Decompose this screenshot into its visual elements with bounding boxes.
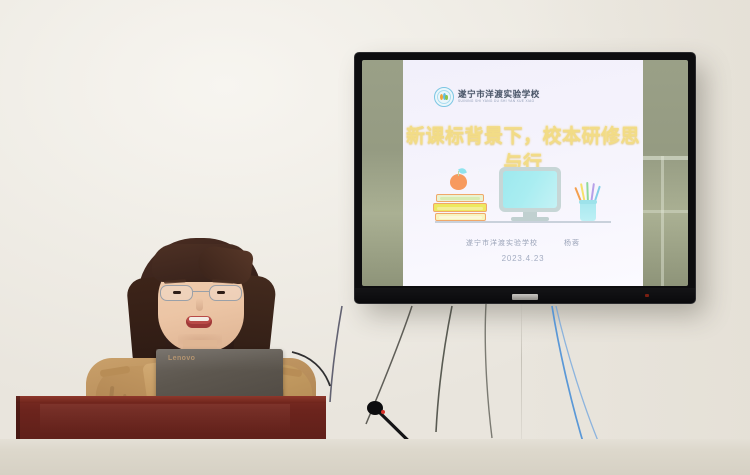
book-bottom	[435, 213, 486, 221]
teeth	[189, 317, 209, 321]
slide-footer-date: 2023.4.23	[403, 254, 643, 263]
eye-right	[217, 291, 225, 294]
presentation-slide: 遂宁市洋渡实验学校 SUINING SHI YANG DU SHI YAN XU…	[403, 60, 643, 286]
lens-right	[209, 285, 242, 301]
glasses-bridge	[193, 291, 209, 292]
nose	[196, 298, 203, 311]
slide-footer-line: 遂宁市洋渡实验学校杨蓉	[403, 238, 643, 248]
letterbox-band-left	[362, 60, 403, 286]
mouth-speaking	[186, 316, 212, 328]
reflection-streak-3	[661, 156, 664, 286]
illustration-ground-line	[435, 221, 611, 223]
book-top	[436, 194, 484, 202]
reflection-streak-2	[643, 210, 688, 213]
wall-seam-line	[521, 300, 522, 445]
monitor-screen	[503, 171, 557, 208]
floor-surface	[0, 439, 750, 475]
apple-leaf	[458, 167, 467, 175]
school-emblem-icon	[434, 87, 454, 107]
tv-power-led-icon	[645, 294, 649, 297]
wall-mounted-tv[interactable]: 遂宁市洋渡实验学校 SUINING SHI YANG DU SHI YAN XU…	[355, 53, 695, 303]
presentation-scene: 遂宁市洋渡实验学校 SUINING SHI YANG DU SHI YAN XU…	[0, 0, 750, 475]
school-logo: 遂宁市洋渡实验学校 SUINING SHI YANG DU SHI YAN XU…	[434, 87, 540, 107]
podium-sheen	[40, 404, 290, 434]
reflection-streak-1	[643, 156, 688, 160]
laptop-brand-label: Lenovo	[168, 355, 195, 362]
school-name-pinyin: SUINING SHI YANG DU SHI YAN XUE XIAO	[458, 100, 540, 103]
laptop[interactable]: Lenovo	[156, 349, 283, 400]
eye-left	[173, 291, 181, 294]
book-middle	[433, 203, 487, 212]
footer-presenter-name: 杨蓉	[564, 239, 580, 247]
monitor-base	[511, 217, 549, 221]
school-name-cn: 遂宁市洋渡实验学校	[458, 90, 540, 99]
tv-brand-badge	[512, 294, 538, 300]
emblem-figures	[440, 93, 448, 101]
apple-icon	[450, 174, 467, 190]
pencil-cup-icon	[580, 202, 596, 221]
footer-school-name: 遂宁市洋渡实验学校	[466, 239, 538, 247]
school-logo-text: 遂宁市洋渡实验学校 SUINING SHI YANG DU SHI YAN XU…	[458, 90, 540, 103]
letterbox-band-right	[643, 60, 688, 286]
podium-top-surface	[16, 396, 326, 403]
tv-screen-area: 遂宁市洋渡实验学校 SUINING SHI YANG DU SHI YAN XU…	[362, 60, 688, 286]
slide-illustration	[403, 164, 643, 230]
monitor-icon	[499, 167, 561, 212]
cup-rim	[579, 200, 597, 204]
microphone-indicator-icon	[381, 410, 385, 414]
